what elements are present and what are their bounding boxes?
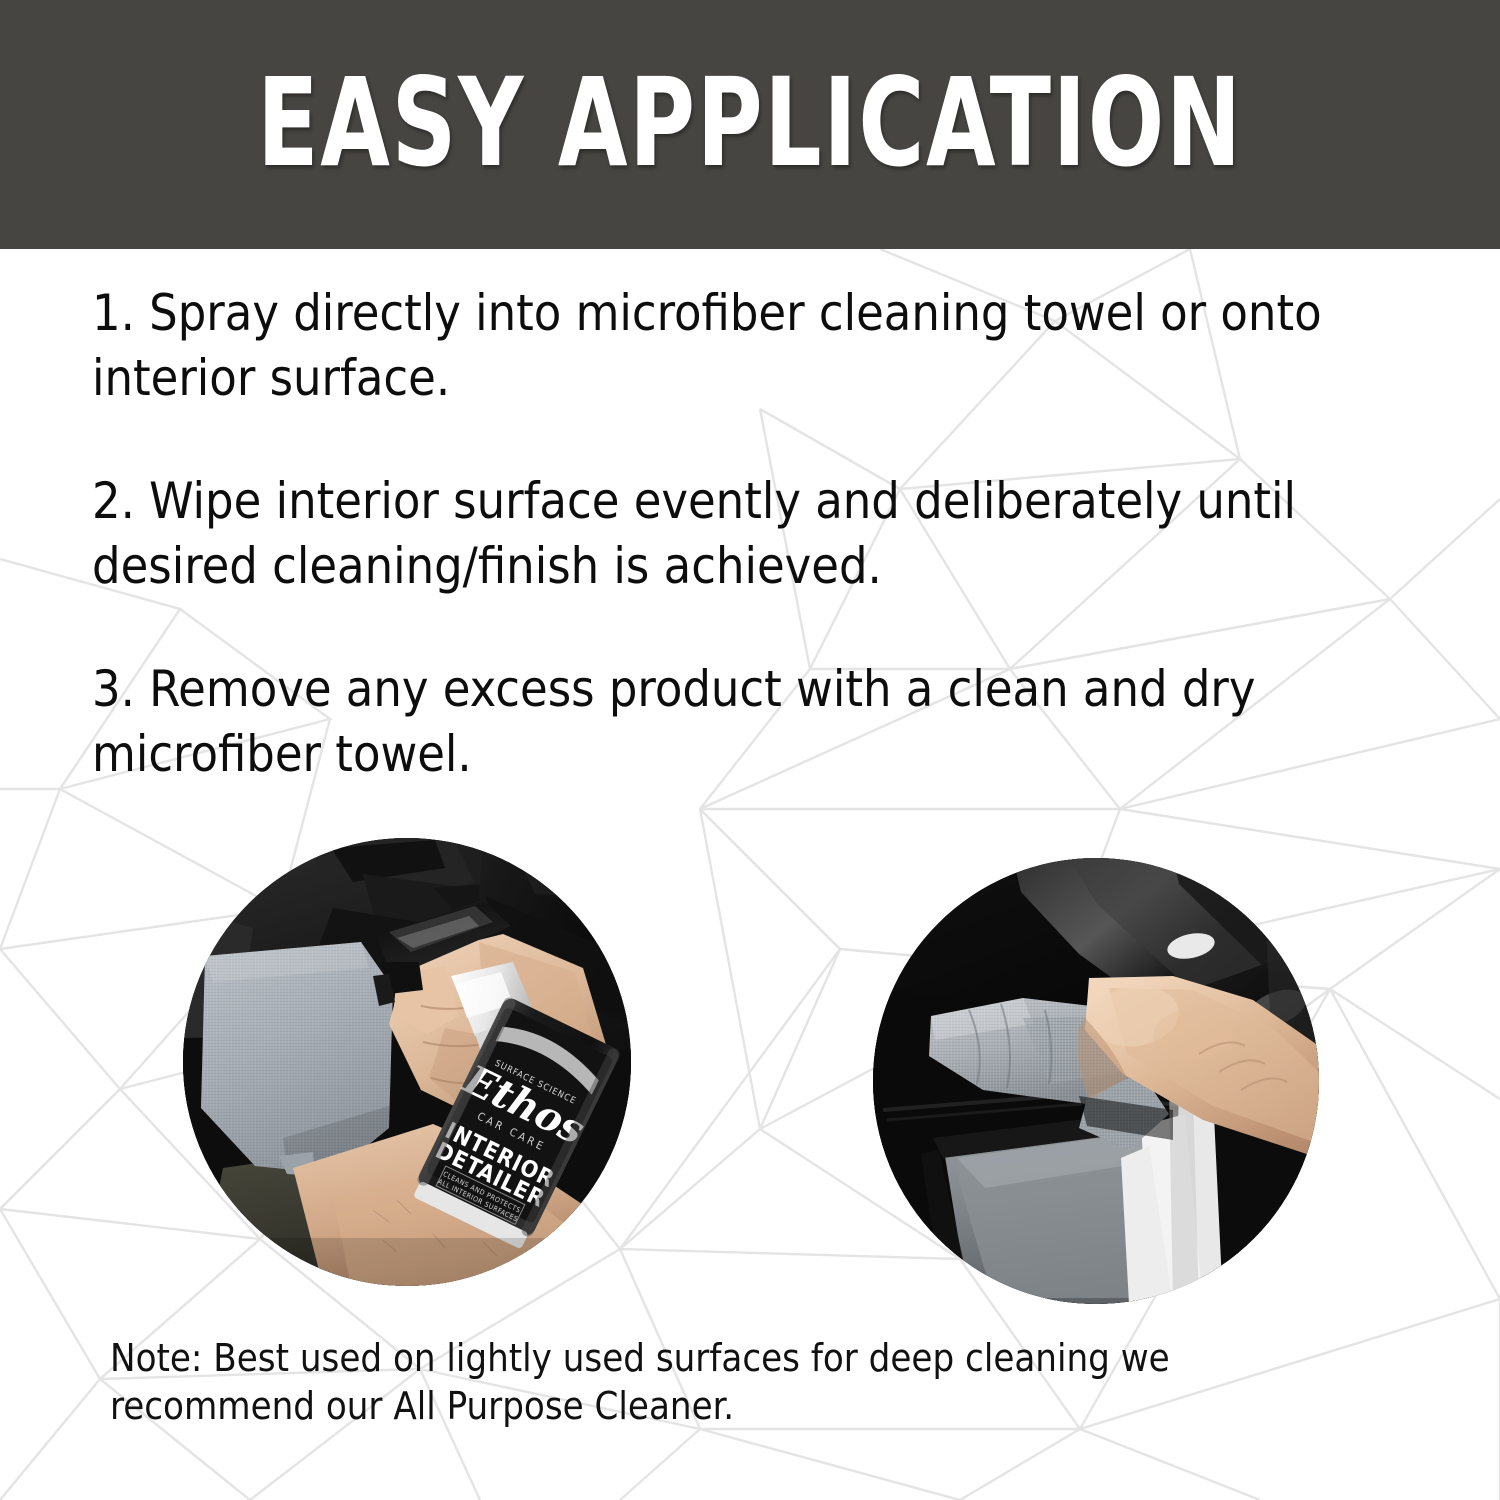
instruction-step-3: 3. Remove any excess product with a clea…	[92, 657, 1422, 787]
page-title: EASY APPLICATION	[135, 58, 1365, 188]
photo-wiping-door-sill	[873, 858, 1319, 1304]
photo-spraying-product: SURFACE SCIENCE Ethos CAR CARE INTERIOR …	[183, 838, 631, 1286]
instruction-steps-list: 1. Spray directly into microfiber cleani…	[92, 281, 1422, 787]
header-bar: EASY APPLICATION	[0, 0, 1500, 249]
note-text: Note: Best used on lightly used surfaces…	[110, 1334, 1320, 1430]
instruction-step-2: 2. Wipe interior surface evently and del…	[92, 469, 1422, 599]
instruction-step-1: 1. Spray directly into microfiber cleani…	[92, 281, 1422, 411]
application-instructions-page: EASY APPLICATION 1. Spray directly into …	[0, 0, 1500, 1500]
